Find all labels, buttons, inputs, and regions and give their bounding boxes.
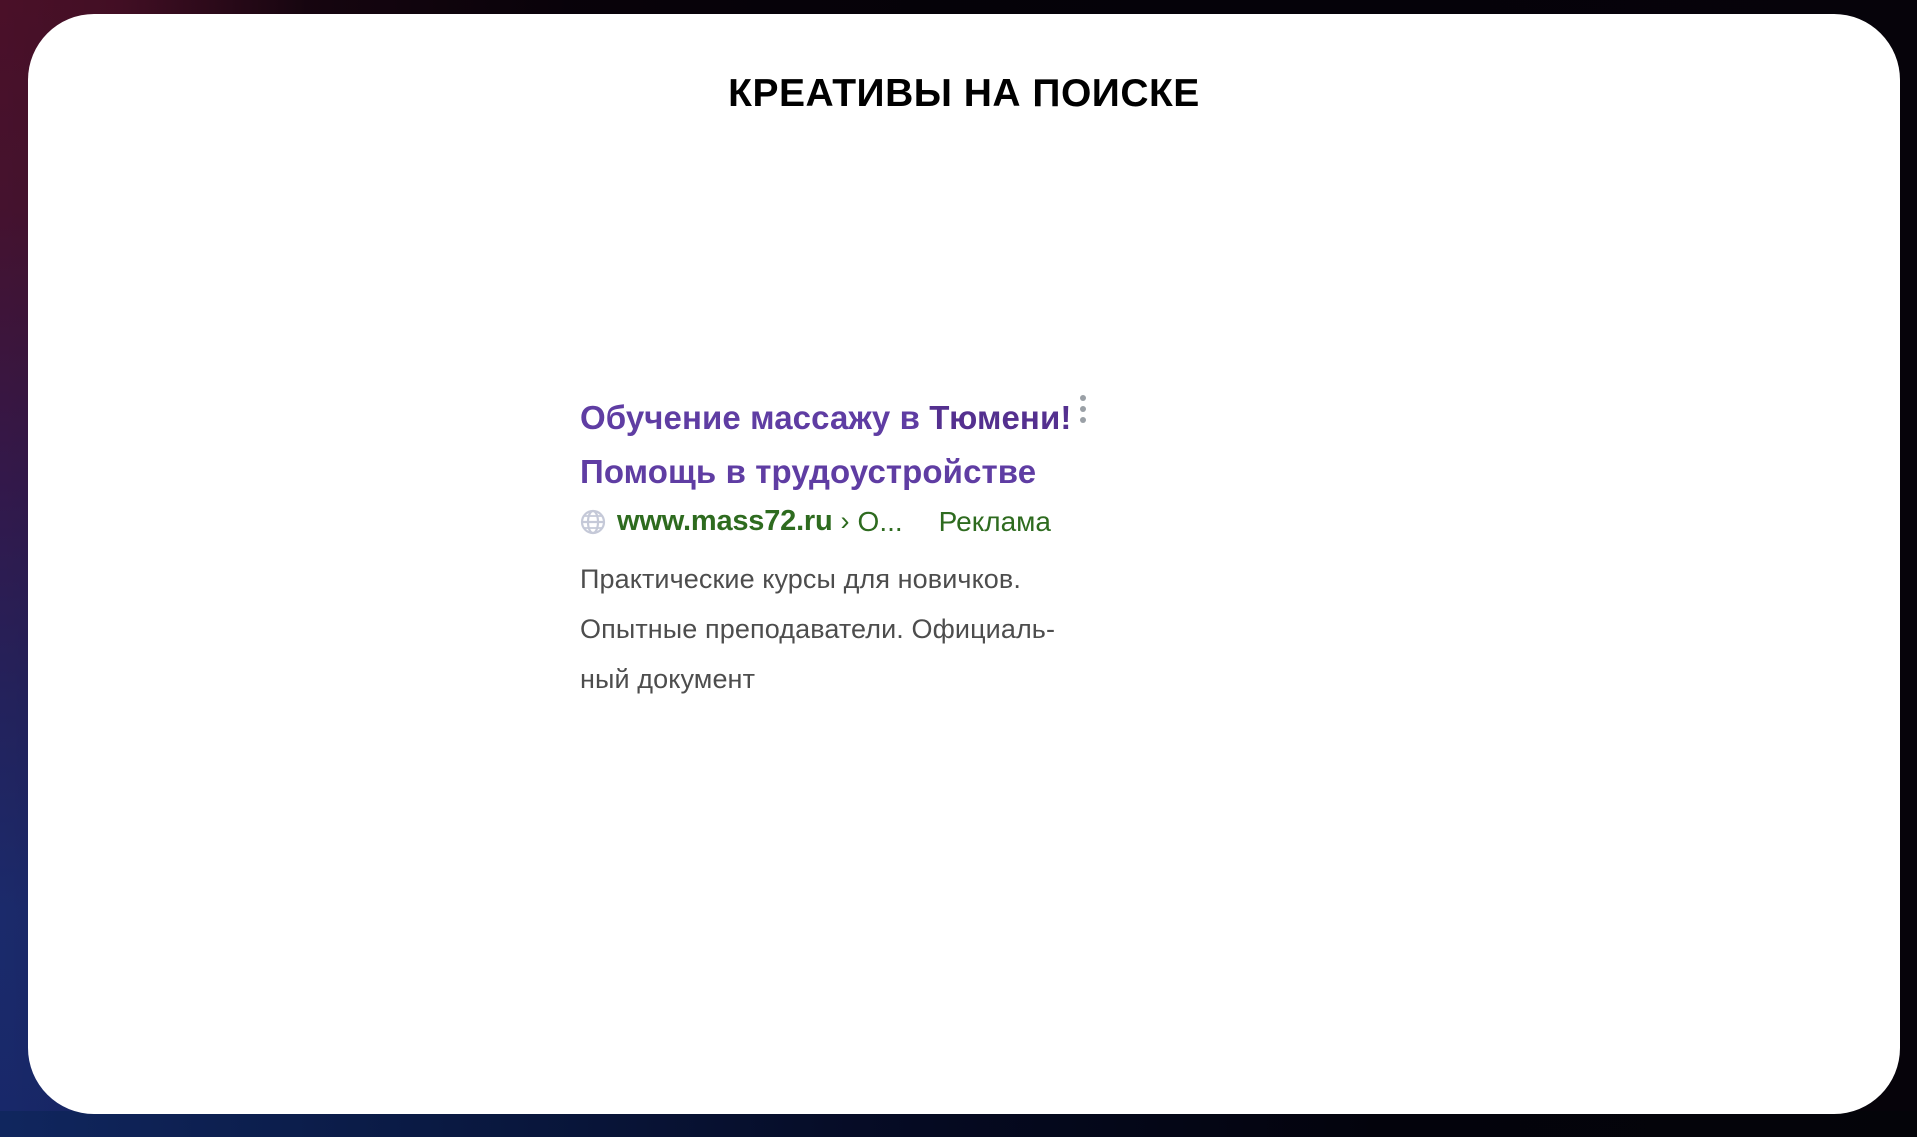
ad-label-reklama: Реклама — [939, 506, 1051, 538]
ad-breadcrumb[interactable]: О... — [858, 506, 903, 538]
slide-white-card: КРЕАТИВЫ НА ПОИСКЕ Обучение массажу в Тю… — [28, 14, 1900, 1114]
breadcrumb-separator: › — [841, 506, 850, 537]
ad-description-line-2: Опытные преподаватели. Официаль- — [580, 604, 1280, 654]
globe-icon — [580, 509, 606, 535]
ad-description-line-1: Практические курсы для новичков. — [580, 554, 1280, 604]
presentation-slide: КРЕАТИВЫ НА ПОИСКЕ Обучение массажу в Тю… — [0, 0, 1917, 1137]
ad-headline[interactable]: Обучение массажу в Тюмени! Помощь в труд… — [580, 391, 1270, 499]
kebab-menu-icon[interactable] — [1080, 395, 1087, 423]
ad-headline-line1-strong: Тюмени! — [929, 399, 1071, 436]
page-title: КРЕАТИВЫ НА ПОИСКЕ — [28, 72, 1900, 116]
ad-domain[interactable]: www.mass72.ru — [617, 505, 833, 538]
ad-headline-line1-regular: Обучение массажу в — [580, 399, 929, 436]
ad-description: Практические курсы для новичков. Опытные… — [580, 554, 1280, 704]
ad-url-row[interactable]: www.mass72.ru › О... Реклама — [580, 505, 1280, 538]
search-ad-snippet[interactable]: Обучение массажу в Тюмени! Помощь в труд… — [580, 391, 1280, 704]
ad-headline-line2: Помощь в трудоустройстве — [580, 453, 1036, 490]
ad-description-line-3: ный документ — [580, 654, 1280, 704]
